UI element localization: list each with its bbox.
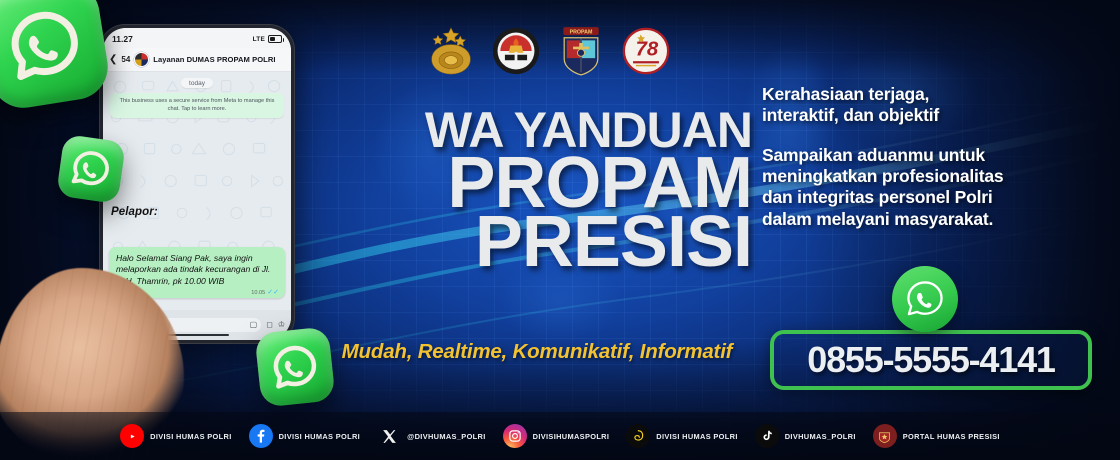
- whatsapp-icon: [67, 145, 114, 192]
- threads-icon: [626, 424, 650, 448]
- emblem-row: PROPAM 78: [425, 22, 672, 80]
- chat-body: today This business uses a secure servic…: [103, 72, 291, 310]
- message-meta: 10.05 ✓✓: [251, 289, 279, 296]
- social-handle: DIVHUMAS_POLRI: [785, 432, 856, 441]
- whatsapp-icon: [902, 276, 948, 322]
- social-item-instagram[interactable]: DIVISIHUMASPOLRI: [503, 424, 610, 448]
- phone-number-box[interactable]: 0855-5555-4141: [770, 330, 1092, 390]
- phone-status-bar: 11.27 LTE: [103, 28, 291, 48]
- whatsapp-badge[interactable]: [892, 266, 958, 332]
- system-notice[interactable]: This business uses a secure service from…: [110, 93, 284, 118]
- right-block2-line2: meningkatkan profesionalitas: [762, 166, 1092, 187]
- svg-text:78: 78: [636, 39, 659, 61]
- right-text-panel: Kerahasiaan terjaga, interaktif, dan obj…: [762, 84, 1092, 230]
- polri-emblem-icon: [873, 424, 897, 448]
- social-handle: PORTAL HUMAS PRESISI: [903, 432, 1000, 441]
- social-item-facebook[interactable]: DIVISI HUMAS POLRI: [249, 424, 360, 448]
- tribrata-polri-emblem: [425, 22, 477, 80]
- unread-count: 54: [121, 55, 130, 64]
- social-item-x[interactable]: @DIVHUMAS_POLRI: [377, 424, 486, 448]
- camera-icon[interactable]: ◻: [266, 321, 273, 329]
- social-item-portal[interactable]: PORTAL HUMAS PRESISI: [873, 424, 1000, 448]
- whatsapp-3d-logo-medium: [254, 326, 335, 407]
- wa-yanduan-propam-banner: PROPAM 78: [0, 0, 1120, 460]
- instagram-icon: [503, 424, 527, 448]
- chat-message-text: Halo Selamat Siang Pak, saya ingin melap…: [116, 253, 278, 287]
- youtube-icon: [120, 424, 144, 448]
- message-time: 10.05: [251, 290, 265, 296]
- social-handle: DIVISI HUMAS POLRI: [656, 432, 737, 441]
- chat-title: Layanan DUMAS PROPAM POLRI: [153, 55, 275, 64]
- back-arrow-icon[interactable]: ❮: [109, 55, 117, 65]
- propam-emblem: PROPAM: [555, 22, 607, 80]
- whatsapp-icon: [0, 0, 89, 89]
- social-handle: DIVISIHUMASPOLRI: [533, 432, 610, 441]
- headline-block: WA YANDUAN PROPAM PRESISI: [312, 108, 752, 275]
- day-divider: today: [181, 78, 213, 88]
- status-time: 11.27: [112, 34, 133, 44]
- avatar: [134, 52, 149, 67]
- social-handle: DIVISI HUMAS POLRI: [279, 432, 360, 441]
- network-indicator: LTE: [253, 36, 265, 43]
- chat-header[interactable]: ❮ 54 Layanan DUMAS PROPAM POLRI: [103, 48, 291, 72]
- right-block2-line3: dan integritas personel Polri: [762, 187, 1092, 208]
- right-block2-line1: Sampaikan aduanmu untuk: [762, 145, 1092, 166]
- tiktok-icon: [755, 424, 779, 448]
- sticker-icon[interactable]: ▢: [250, 321, 258, 329]
- anniversary-78-emblem: 78: [620, 22, 672, 80]
- microphone-icon[interactable]: ♔: [278, 321, 285, 329]
- whatsapp-3d-logo-large: [0, 0, 113, 113]
- right-block1-line2: interaktif, dan objektif: [762, 105, 1092, 126]
- battery-icon: [268, 35, 282, 43]
- social-handle: DIVISI HUMAS POLRI: [150, 432, 231, 441]
- facebook-icon: [249, 424, 273, 448]
- social-item-youtube[interactable]: DIVISI HUMAS POLRI: [120, 424, 231, 448]
- phone-number: 0855-5555-4141: [807, 339, 1054, 381]
- headline-line-3: PRESISI: [312, 210, 752, 275]
- svg-text:PROPAM: PROPAM: [570, 29, 593, 35]
- social-footer: DIVISI HUMAS POLRI DIVISI HUMAS POLRI @D…: [0, 412, 1120, 460]
- tagline: Mudah, Realtime, Komunikatif, Informatif: [312, 340, 762, 364]
- right-block1-line1: Kerahasiaan terjaga,: [762, 84, 1092, 105]
- right-block2-line4: dalam melayani masyarakat.: [762, 209, 1092, 230]
- social-item-threads[interactable]: DIVISI HUMAS POLRI: [626, 424, 737, 448]
- social-item-tiktok[interactable]: DIVHUMAS_POLRI: [755, 424, 856, 448]
- read-receipt-icon: ✓✓: [267, 289, 279, 296]
- humas-polri-emblem: [490, 22, 542, 80]
- sender-label: Pelapor:: [111, 206, 158, 218]
- x-twitter-icon: [377, 424, 401, 448]
- social-handle: @DIVHUMAS_POLRI: [407, 432, 486, 441]
- whatsapp-3d-logo-small: [56, 134, 126, 204]
